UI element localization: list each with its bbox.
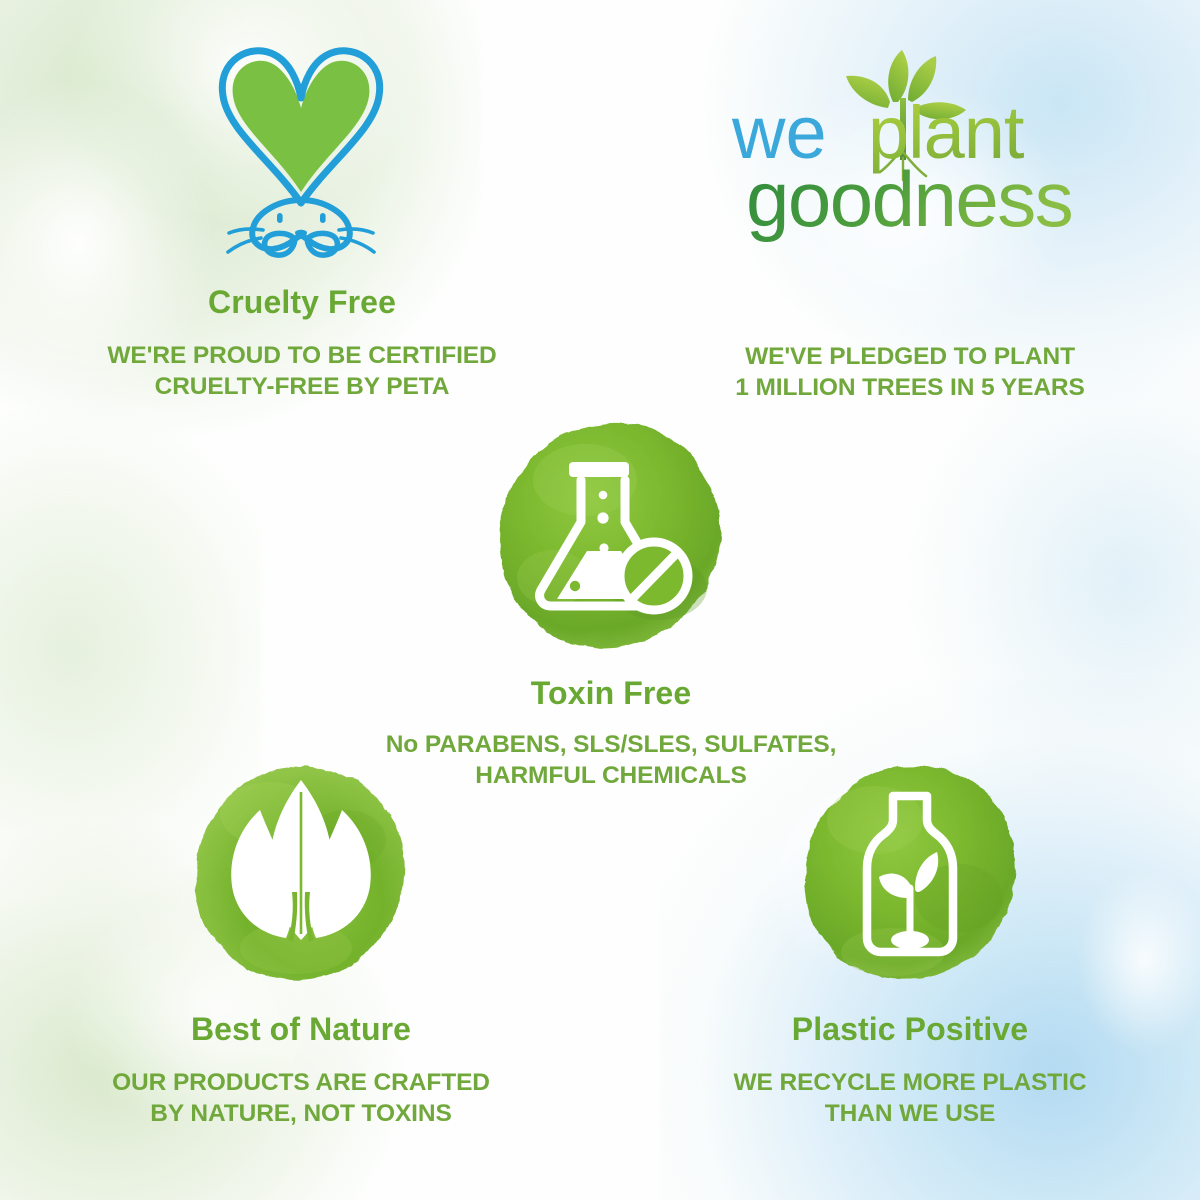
sprout-soil-mound xyxy=(891,931,929,949)
bunny-whisker-right-upper xyxy=(339,229,373,233)
badge-title: Cruelty Free xyxy=(22,285,582,321)
flask-bubble-4 xyxy=(570,581,580,591)
bunny-eye-right xyxy=(320,213,326,223)
badge-description: OUR PRODUCTS ARE CRAFTED BY NATURE, NOT … xyxy=(20,1068,582,1130)
three-leaves-icon xyxy=(188,762,414,986)
flask-bubble-2 xyxy=(597,512,608,523)
we-plant-goodness-logo: we plant goodness xyxy=(640,40,1180,310)
badge-description-line-2: THAN WE USE xyxy=(636,1099,1184,1130)
badge-description-line-1: WE'VE PLEDGED TO PLANT xyxy=(640,342,1180,373)
flask-bubble-3 xyxy=(599,543,608,552)
badge-title: Toxin Free xyxy=(330,676,892,712)
bottle-sprout-icon xyxy=(797,762,1023,986)
badge-description: WE'RE PROUD TO BE CERTIFIED CRUELTY-FREE… xyxy=(22,341,582,403)
badge-best-of-nature: Best of Nature OUR PRODUCTS ARE CRAFTED … xyxy=(20,762,582,1130)
bunny-eye-left xyxy=(277,213,283,223)
badge-description-line-1: WE'RE PROUD TO BE CERTIFIED xyxy=(22,341,582,372)
badge-title: Plastic Positive xyxy=(636,1012,1184,1048)
badge-description: WE RECYCLE MORE PLASTIC THAN WE USE xyxy=(636,1068,1184,1130)
logo-word-goodness: goodness xyxy=(746,155,1072,243)
infographic-canvas: Cruelty Free WE'RE PROUD TO BE CERTIFIED… xyxy=(0,0,1200,1200)
bunny-whisker-left-upper xyxy=(229,229,263,233)
badge-title: Best of Nature xyxy=(20,1012,582,1048)
badge-description-line-2: CRUELTY-FREE BY PETA xyxy=(22,372,582,403)
badge-description: WE'VE PLEDGED TO PLANT 1 MILLION TREES I… xyxy=(640,342,1180,404)
flask-prohibited-icon xyxy=(491,418,731,654)
badge-we-plant-goodness: we plant goodness WE'VE PLEDGED TO PLANT… xyxy=(640,40,1180,404)
badge-cruelty-free: Cruelty Free WE'RE PROUD TO BE CERTIFIED… xyxy=(22,40,582,403)
badge-description-line-1: No PARABENS, SLS/SLES, SULFATES, xyxy=(330,730,892,761)
bunny-heart-fill xyxy=(233,61,370,192)
badge-toxin-free: Toxin Free No PARABENS, SLS/SLES, SULFAT… xyxy=(330,418,892,792)
flask-cap xyxy=(569,462,629,477)
badge-description-line-2: 1 MILLION TREES IN 5 YEARS xyxy=(640,373,1180,404)
flask-bubble-1 xyxy=(599,491,608,500)
badge-description-line-2: BY NATURE, NOT TOXINS xyxy=(20,1099,582,1130)
badge-description-line-1: OUR PRODUCTS ARE CRAFTED xyxy=(20,1068,582,1099)
bunny-heart-ears-icon xyxy=(22,40,582,265)
badge-plastic-positive: Plastic Positive WE RECYCLE MORE PLASTIC… xyxy=(636,762,1184,1130)
badge-description-line-1: WE RECYCLE MORE PLASTIC xyxy=(636,1068,1184,1099)
